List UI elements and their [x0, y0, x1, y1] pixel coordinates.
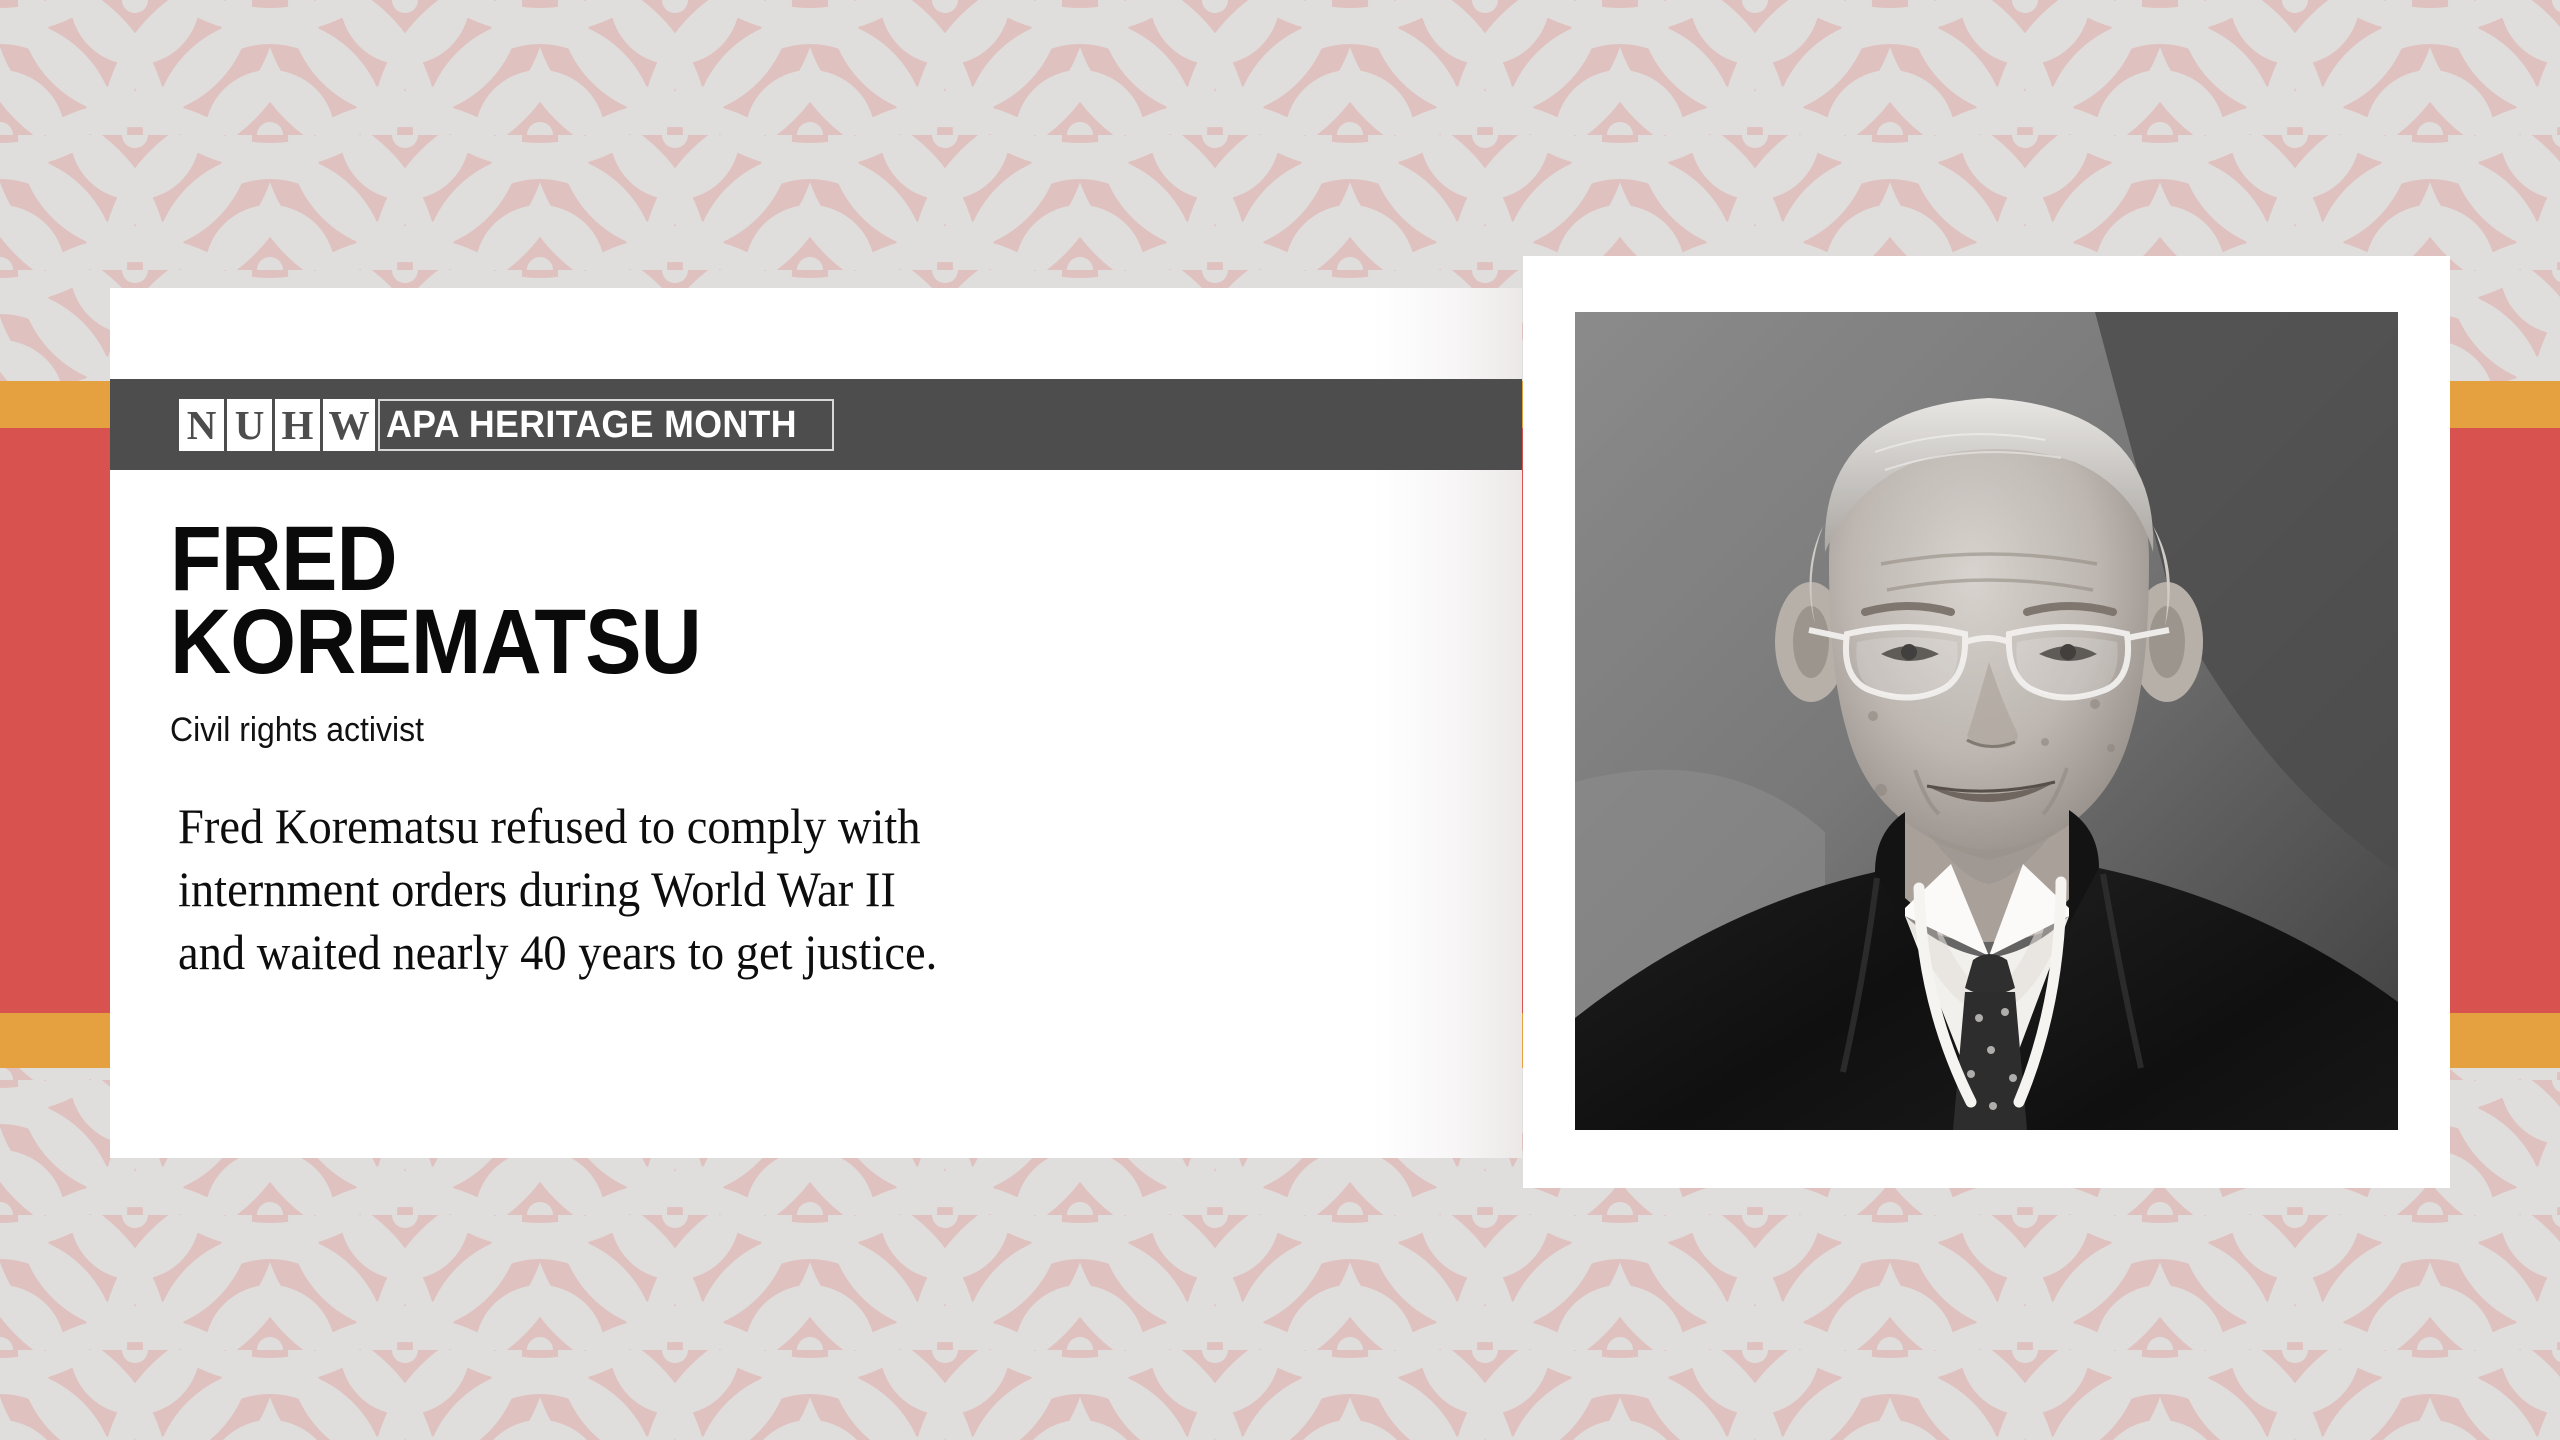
- person-blurb: Fred Korematsu refused to comply with in…: [178, 795, 1257, 984]
- portrait-frame: [1523, 256, 2450, 1188]
- nuhw-logo-letter-w: W: [323, 399, 375, 451]
- portrait-illustration: [1575, 312, 2398, 1130]
- nuhw-logo-letter-h: H: [275, 399, 320, 451]
- nuhw-logo-letter-u: U: [227, 399, 272, 451]
- nuhw-logo-letter-n: N: [179, 399, 224, 451]
- card-text-block: FRED KOREMATSU Civil rights activist Fre…: [110, 470, 1522, 984]
- campaign-label-text: APA HERITAGE MONTH: [386, 405, 797, 445]
- person-name-line-1: FRED: [170, 518, 1414, 601]
- person-name-line-2: KOREMATSU: [170, 601, 1414, 684]
- heritage-month-graphic: N U H W APA HERITAGE MONTH FRED KOREMATS…: [0, 0, 2560, 1440]
- person-name: FRED KOREMATSU: [170, 518, 1414, 684]
- person-blurb-line-3: and waited nearly 40 years to get justic…: [178, 921, 1257, 984]
- campaign-label-box: APA HERITAGE MONTH: [378, 399, 834, 451]
- nuhw-logo: N U H W: [179, 399, 375, 451]
- person-blurb-line-2: internment orders during World War II: [178, 858, 1257, 921]
- campaign-header-bar: N U H W APA HERITAGE MONTH: [110, 379, 1522, 470]
- portrait-photo: [1575, 312, 2398, 1130]
- brand-row: N U H W APA HERITAGE MONTH: [179, 399, 834, 451]
- person-blurb-line-1: Fred Korematsu refused to comply with: [178, 795, 1257, 858]
- person-role: Civil rights activist: [170, 710, 1441, 751]
